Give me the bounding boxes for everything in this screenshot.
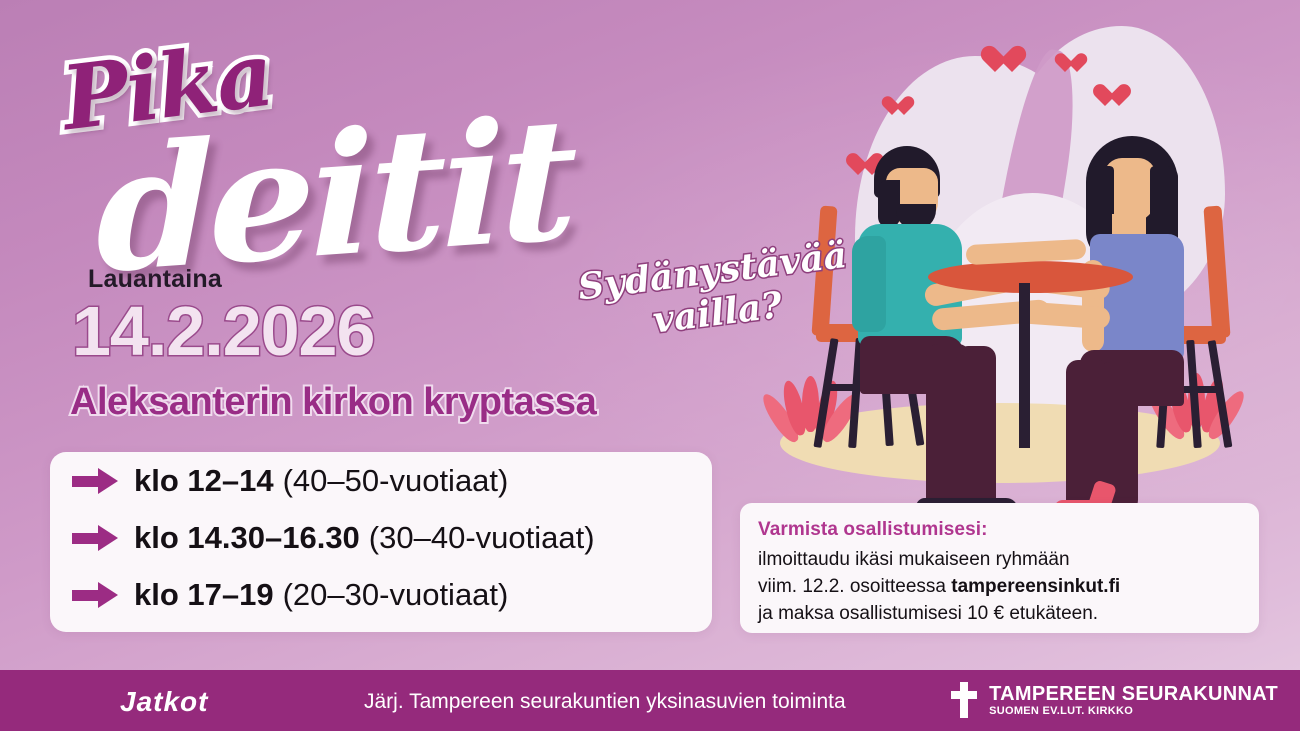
schedule-time: klo 12–14 <box>134 463 274 499</box>
schedule-row: klo 17–19 (20–30-vuotiaat) <box>50 566 712 623</box>
arrow-right-icon <box>72 468 120 494</box>
logo-subtitle: SUOMEN EV.LUT. KIRKKO <box>989 705 1278 718</box>
event-venue: Aleksanterin kirkon kryptassa <box>70 382 596 422</box>
schedule-age-range: (40–50-vuotiaat) <box>283 463 509 499</box>
heart-icon <box>1105 84 1131 108</box>
schedule-age-range: (30–40-vuotiaat) <box>369 520 595 556</box>
registration-heading: Varmista osallistumisesi: <box>758 519 1259 541</box>
footer-organizer: Järj. Tampereen seurakuntien yksinasuvie… <box>364 690 846 714</box>
schedule-row: klo 14.30–16.30 (30–40-vuotiaat) <box>50 509 712 566</box>
heart-icon <box>892 96 914 116</box>
table-stem <box>1019 283 1030 448</box>
registration-website[interactable]: tampereensinkut.fi <box>951 576 1120 597</box>
heart-icon <box>995 46 1026 75</box>
person-woman <box>1060 136 1240 446</box>
footer-jatkot-label: Jatkot <box>120 686 208 718</box>
person-man <box>852 146 1022 446</box>
organization-logo: TAMPEREEN SEURAKUNNAT SUOMEN EV.LUT. KIR… <box>951 682 1278 718</box>
table-top <box>928 261 1133 293</box>
schedule-row: klo 12–14 (40–50-vuotiaat) <box>50 452 712 509</box>
woman-top <box>1090 234 1184 362</box>
logo-title: TAMPEREEN SEURAKUNNAT <box>989 683 1278 705</box>
registration-card: Varmista osallistumisesi: ilmoittaudu ik… <box>740 503 1259 633</box>
registration-line-2-text: viim. 12.2. osoitteessa <box>758 576 951 597</box>
footer-bar: Jatkot Järj. Tampereen seurakuntien yksi… <box>0 670 1300 731</box>
cross-icon <box>951 682 977 718</box>
schedule-time: klo 14.30–16.30 <box>134 520 360 556</box>
poster: Pika deitit Sydänystävää vailla? Lauanta… <box>0 0 1300 731</box>
schedule-age-range: (20–30-vuotiaat) <box>283 577 509 613</box>
logo-text: TAMPEREEN SEURAKUNNAT SUOMEN EV.LUT. KIR… <box>989 683 1278 718</box>
man-sleeve <box>852 236 886 332</box>
arrow-right-icon <box>72 525 120 551</box>
registration-line-1: ilmoittaudu ikäsi mukaiseen ryhmään <box>758 546 1259 573</box>
schedule-card: klo 12–14 (40–50-vuotiaat) klo 14.30–16.… <box>50 452 712 632</box>
arrow-right-icon <box>72 582 120 608</box>
man-leg <box>956 346 996 512</box>
registration-line-3: ja maksa osallistumisesi 10 € etukäteen. <box>758 600 1259 627</box>
schedule-time: klo 17–19 <box>134 577 274 613</box>
registration-line-2: viim. 12.2. osoitteessa tampereensinkut.… <box>758 573 1259 600</box>
heart-icon <box>1065 53 1087 73</box>
